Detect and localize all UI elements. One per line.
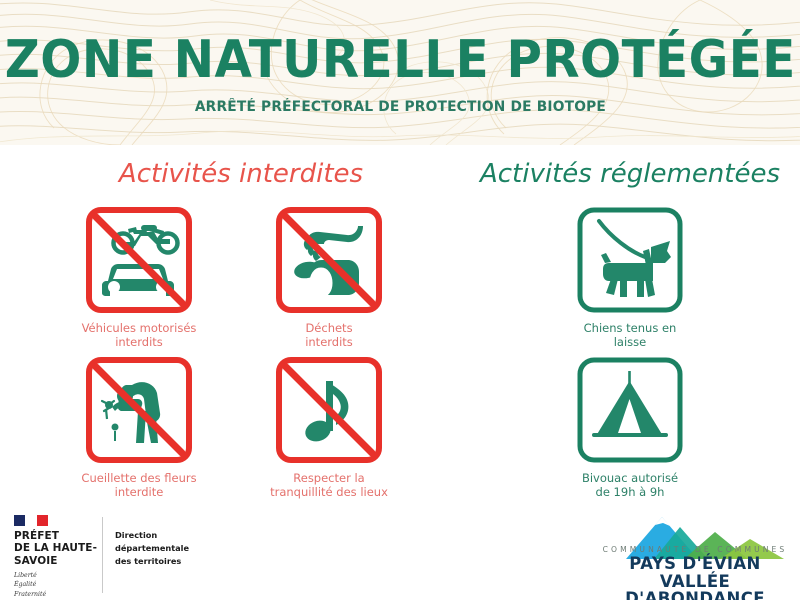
pictogram-caption: Cueillette des fleurs interdite [81, 471, 196, 500]
regulated-column-title: Activités réglementées [460, 161, 800, 187]
community-supertitle: COMMUNAUTÉ DE COMMUNES [600, 545, 790, 554]
pictogram-flower-picking: Cueillette des fleurs interdite [44, 355, 234, 505]
poster-footer: PRÉFET DE LA HAUTE- SAVOIE Liberté Égali… [0, 505, 800, 600]
tent-icon [575, 355, 685, 465]
pictogram-bivouac: Bivouac autorisé de 19h à 9h [515, 355, 745, 505]
flower-picking-icon [84, 355, 194, 465]
page-subtitle: ARRÊTÉ PRÉFECTORAL DE PROTECTION DE BIOT… [194, 99, 605, 115]
republic-motto: Liberté Égalité Fraternité [14, 571, 98, 599]
pictogram-noise: Respecter la tranquillité des lieux [234, 355, 424, 505]
pictogram-caption: Véhicules motorisés interdits [82, 321, 197, 350]
logo-divider [102, 517, 103, 593]
motor-vehicles-icon [84, 205, 194, 315]
pictogram-caption: Bivouac autorisé de 19h à 9h [582, 471, 678, 500]
forbidden-activities-column: Activités interdites [0, 161, 460, 505]
department-service-name: Direction départementale des territoires [115, 515, 189, 568]
litter-icon [274, 205, 384, 315]
regulated-activities-column: Activités réglementées [460, 161, 800, 505]
music-note-icon [274, 355, 384, 465]
pictogram-caption: Chiens tenus en laisse [584, 321, 677, 350]
poster-content: Activités interdites [0, 145, 800, 505]
page-title: ZONE NATURELLE PROTÉGÉE [5, 34, 796, 86]
poster-header: ZONE NATURELLE PROTÉGÉE ARRÊTÉ PRÉFECTOR… [0, 0, 800, 145]
pictogram-litter: Déchets interdits [234, 205, 424, 355]
prefecture-logo: PRÉFET DE LA HAUTE- SAVOIE Liberté Égali… [14, 515, 189, 599]
french-tricolor-flag-icon [14, 515, 48, 526]
prefecture-name: PRÉFET DE LA HAUTE- SAVOIE [14, 530, 98, 567]
pictogram-motor-vehicles: Véhicules motorisés interdits [44, 205, 234, 355]
community-name: PAYS D'ÉVIAN VALLÉE D'ABONDANCE [603, 556, 787, 600]
pictogram-dog-leash: Chiens tenus en laisse [515, 205, 745, 355]
forbidden-column-title: Activités interdites [22, 161, 460, 187]
community-of-communes-logo: COMMUNAUTÉ DE COMMUNES PAYS D'ÉVIAN VALL… [600, 513, 790, 600]
pictogram-caption: Respecter la tranquillité des lieux [270, 471, 388, 500]
dog-on-leash-icon [575, 205, 685, 315]
poster: ZONE NATURELLE PROTÉGÉE ARRÊTÉ PRÉFECTOR… [0, 0, 800, 600]
pictogram-caption: Déchets interdits [305, 321, 353, 350]
